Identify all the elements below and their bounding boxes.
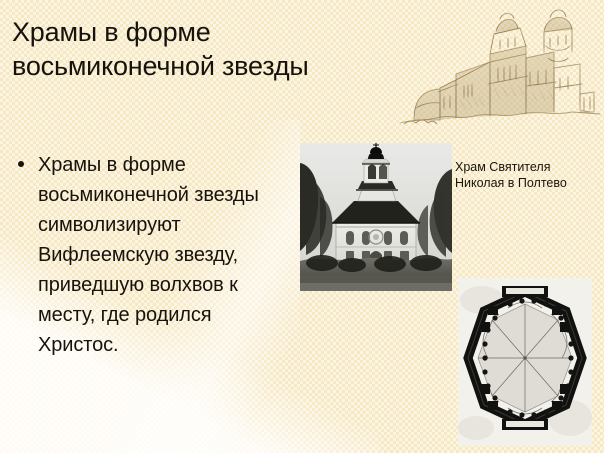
bullet-dot-icon [18, 161, 24, 167]
church-photo [300, 143, 452, 291]
bullet-text: Храмы в форме восьмиконечной звезды симв… [38, 154, 259, 356]
content-body: Храмы в форме восьмиконечной звезды симв… [14, 150, 294, 360]
list-item: Храмы в форме восьмиконечной звезды симв… [14, 150, 294, 360]
church-floor-plan [458, 278, 592, 446]
church-sketch-illustration [394, 2, 604, 134]
photo-caption: Храм Святителя Николая в Полтево [455, 160, 601, 191]
slide: Храмы в форме восьмиконечной звезды Храм… [0, 0, 604, 453]
page-title: Храмы в форме восьмиконечной звезды [12, 15, 312, 83]
